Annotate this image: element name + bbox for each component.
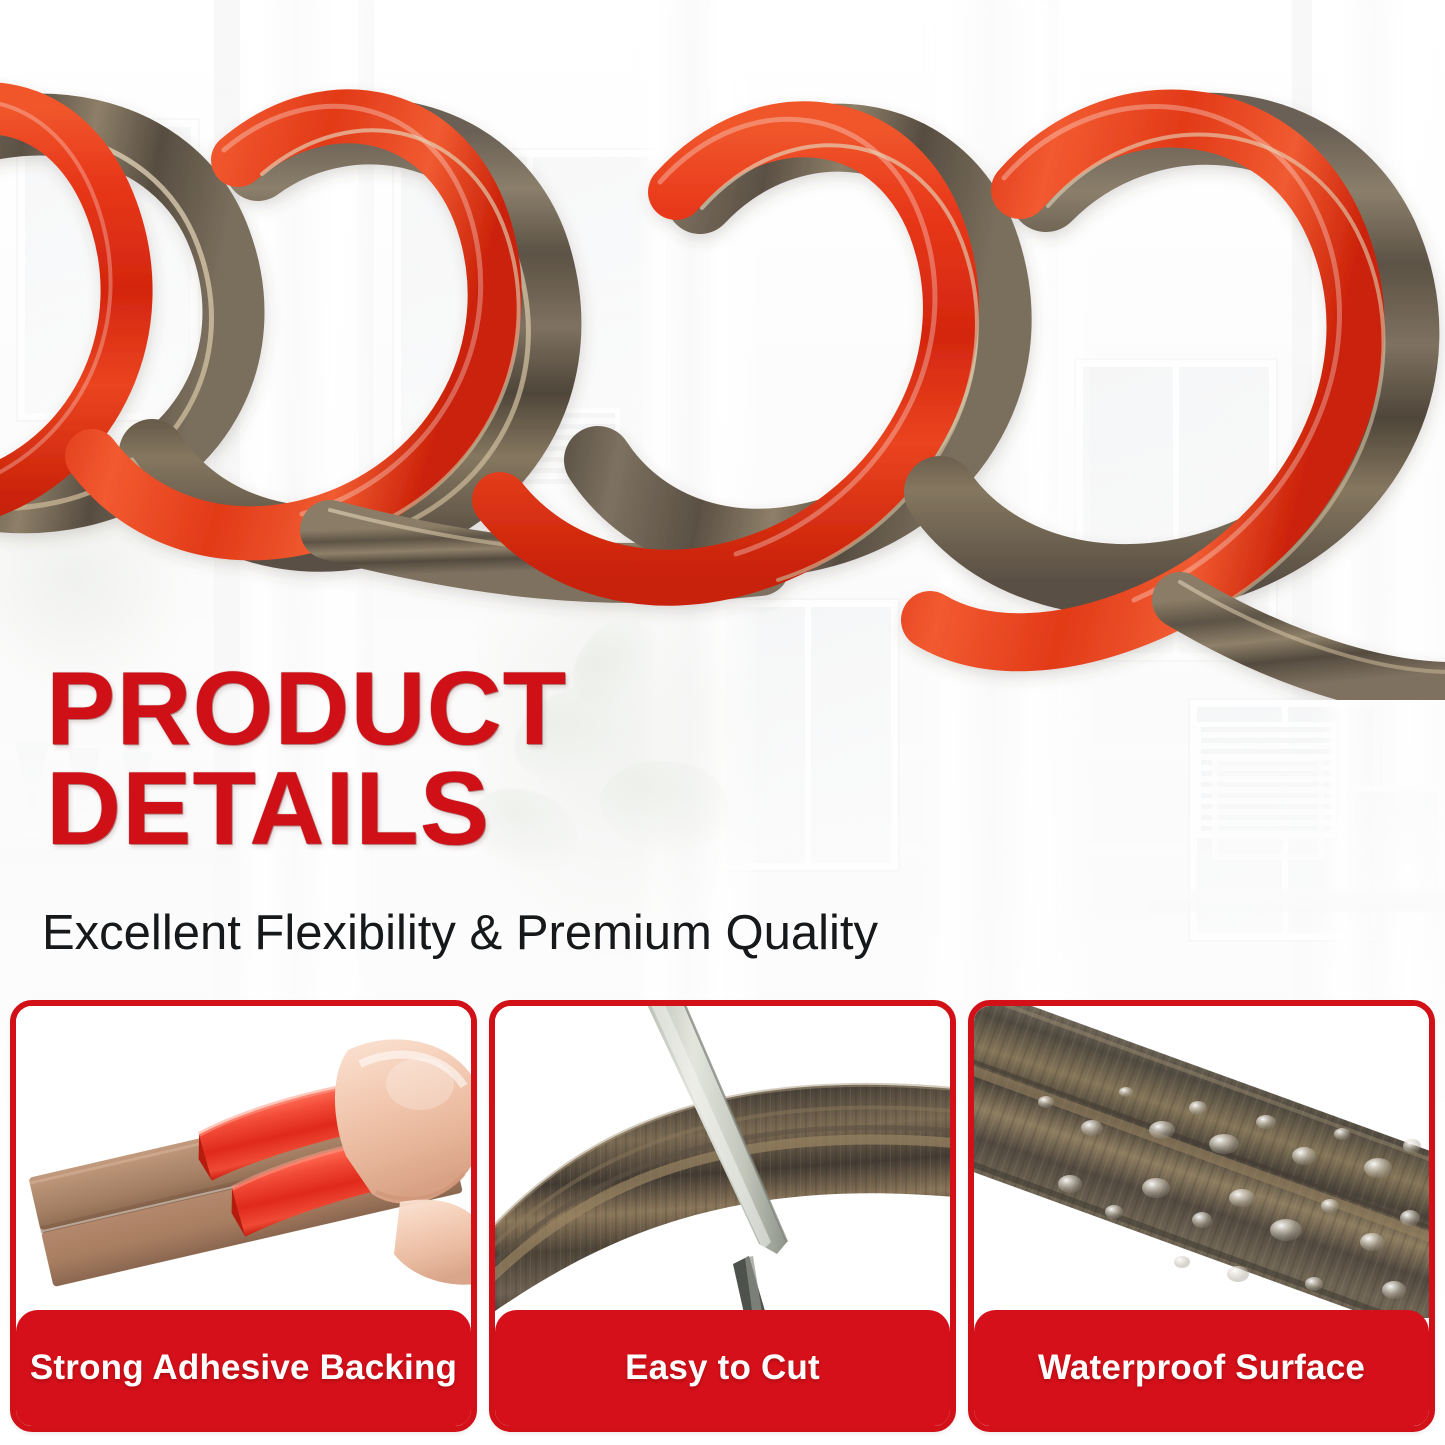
- caption-waterproof-surface: Waterproof Surface: [974, 1310, 1429, 1426]
- product-detail-image: PRODUCT DETAILS Excellent Flexibility & …: [0, 0, 1445, 1445]
- caption-easy-to-cut: Easy to Cut: [495, 1310, 950, 1426]
- feature-panel-waterproof-surface[interactable]: Waterproof Surface: [968, 1000, 1435, 1432]
- page-title-line-2: DETAILS: [46, 760, 906, 860]
- feature-panel-easy-to-cut[interactable]: Easy to Cut: [489, 1000, 956, 1432]
- page-title-line-1: PRODUCT: [46, 660, 906, 760]
- caption-strong-adhesive-backing: Strong Adhesive Backing: [16, 1310, 471, 1426]
- photo-strong-adhesive-backing: [16, 1006, 471, 1318]
- hero-coiled-trim: [0, 0, 1445, 700]
- page-subtitle: Excellent Flexibility & Premium Quality: [42, 905, 878, 961]
- photo-easy-to-cut: [495, 1006, 950, 1318]
- feature-panel-strong-adhesive-backing[interactable]: Strong Adhesive Backing: [10, 1000, 477, 1432]
- photo-waterproof-surface: [974, 1006, 1429, 1318]
- feature-panel-row: Strong Adhesive Backing: [10, 1000, 1435, 1432]
- page-title: PRODUCT DETAILS: [46, 660, 906, 860]
